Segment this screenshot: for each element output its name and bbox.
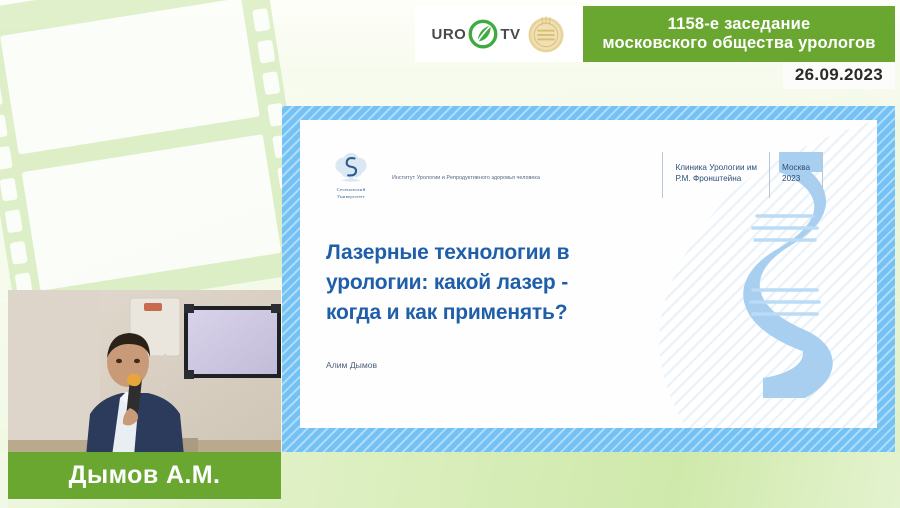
city-label: Москва: [782, 162, 810, 173]
clinic-name-line1: Клиника Урологии им: [675, 162, 757, 173]
presentation-slide: Сеченовский Университет Институт Урологи…: [300, 120, 877, 428]
urotv-leaf-logo-icon: [468, 19, 498, 49]
gold-medal-emblem-icon: [525, 13, 567, 55]
slide-title: Лазерные технологии в урологии: какой ла…: [326, 238, 656, 328]
event-header: URO TV: [415, 6, 895, 62]
speaker-name: Дымов А.М.: [69, 461, 221, 490]
header-divider-3: [822, 152, 823, 198]
urotv-logo: URO TV: [431, 19, 520, 49]
header-divider-2: [769, 152, 770, 198]
slide-title-line2: урологии: какой лазер -: [326, 268, 656, 298]
institute-name: Институт Урологии и Репродуктивного здор…: [392, 174, 540, 182]
place-and-year: Москва 2023: [782, 162, 810, 184]
speaker-camera-feed: [8, 290, 281, 456]
screenshot-root: URO TV: [0, 0, 900, 508]
event-date-badge: 26.09.2023: [783, 62, 895, 89]
sechenov-name-line1: Сеченовский: [337, 187, 366, 193]
event-date: 26.09.2023: [795, 65, 883, 84]
speaker-video-image: [8, 290, 281, 456]
clinic-name: Клиника Урологии им Р.М. Фронштейна: [675, 162, 757, 184]
sechenov-name-line2: Университет: [337, 194, 365, 200]
slide-title-line3: когда и как применять?: [326, 298, 656, 328]
slide-header: Сеченовский Университет Институт Урологи…: [322, 152, 869, 204]
urotv-brand-left: URO: [431, 26, 466, 43]
speaker-name-banner: Дымов А.М.: [8, 452, 281, 499]
event-title-line2: московского общества урологов: [602, 34, 875, 53]
left-edge-strip: [0, 452, 8, 508]
sechenov-university-logo: Сеченовский Университет: [322, 152, 380, 199]
year-label: 2023: [782, 173, 810, 184]
slide-frame: Сеченовский Университет Институт Урологи…: [282, 106, 895, 452]
sechenov-tree-logo-icon: [331, 152, 371, 186]
slide-author: Алим Дымов: [326, 360, 377, 370]
urotv-logo-box: URO TV: [415, 6, 583, 62]
event-title-band: 1158-е заседание московского общества ур…: [583, 6, 895, 62]
header-divider-1: [662, 152, 663, 198]
event-title-line1: 1158-е заседание: [668, 15, 811, 34]
slide-title-line1: Лазерные технологии в: [326, 238, 656, 268]
clinic-name-line2: Р.М. Фронштейна: [675, 173, 757, 184]
urotv-brand-right: TV: [500, 26, 520, 43]
